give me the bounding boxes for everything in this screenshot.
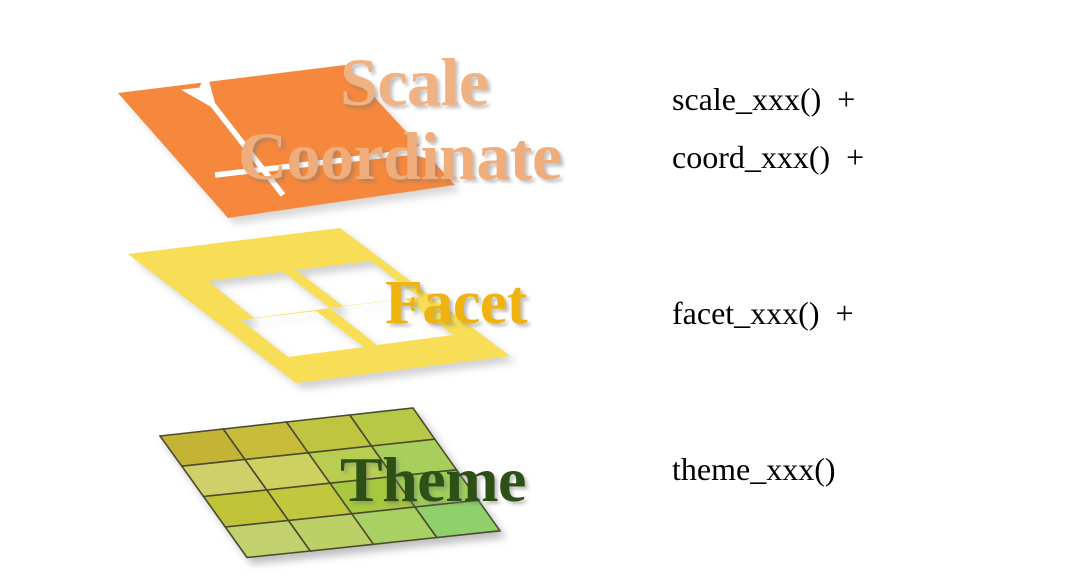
- layer-word-facet: Facet: [385, 272, 527, 334]
- code-label-theme: theme_xxx(): [672, 453, 836, 485]
- theme-cell: [160, 429, 245, 466]
- theme-cell: [225, 521, 310, 558]
- theme-cell: [223, 422, 308, 460]
- theme-cell: [289, 514, 374, 551]
- layer-word-theme: Theme: [340, 448, 526, 512]
- facet-plane-group: [0, 0, 1082, 585]
- code-label-coord: coord_xxx() +: [672, 141, 864, 173]
- code-label-facet: facet_xxx() +: [672, 297, 854, 329]
- theme-layer-graphic: [0, 0, 1082, 585]
- layer-word-coordinate: Coordinate: [238, 122, 562, 190]
- layer-word-scale: Scale: [340, 48, 489, 116]
- theme-cell: [182, 460, 267, 497]
- theme-cell: [245, 453, 330, 490]
- diagram-canvas: Scale Coordinate Facet Theme scale_xxx()…: [0, 0, 1082, 585]
- scale-coordinate-layer-graphic: [0, 0, 1082, 585]
- facet-layer-graphic: [0, 0, 1082, 585]
- theme-cell: [350, 408, 435, 446]
- theme-cell: [204, 490, 289, 527]
- code-label-scale: scale_xxx() +: [672, 83, 855, 115]
